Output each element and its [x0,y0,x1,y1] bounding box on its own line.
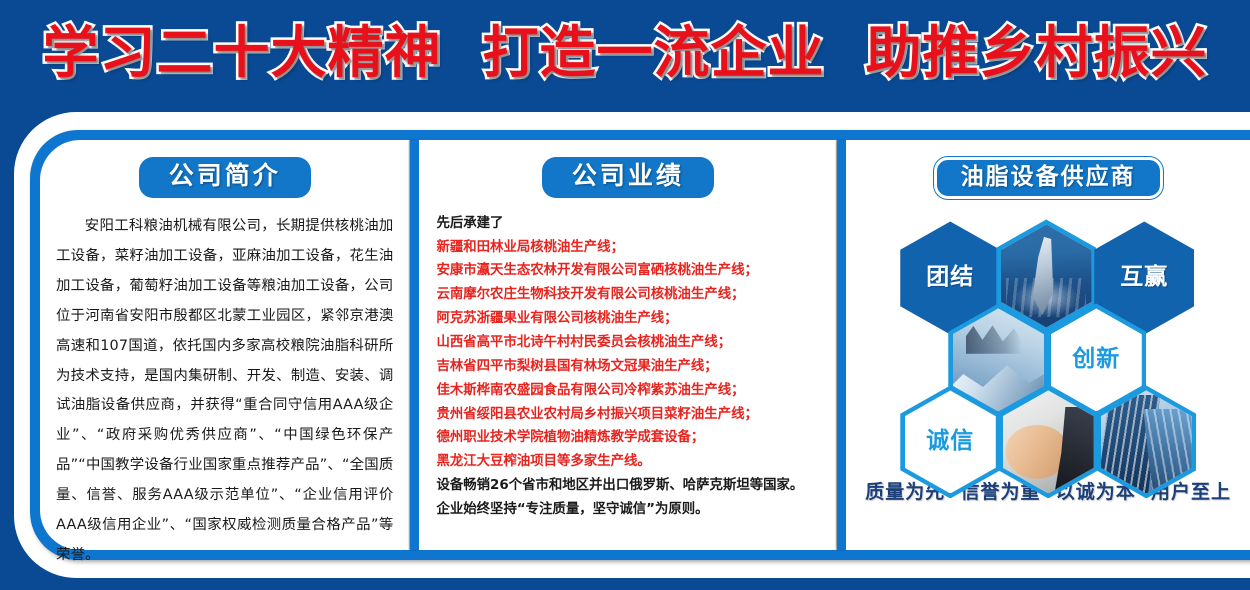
panel-company-intro: 公司简介 安阳工科粮油机械有限公司，长期提供核桃油加工设备，菜籽油加工设备，亚麻… [40,140,410,550]
list-item: 德州职业技术学院植物油精炼教学成套设备； [437,426,820,450]
hexagon-fill: 诚信 [905,390,996,493]
badge-row-intro: 公司简介 [56,140,394,198]
hexagon-fill [1003,390,1094,493]
aircraft-carrier-photo-icon [1001,224,1092,327]
list-item: 新疆和田林业局核桃油生产线； [437,236,820,260]
list-item: 黑龙江大豆榨油项目等多家生产线。 [437,450,820,474]
page-title: 学习二十大精神 打造一流企业 助推乡村振兴 [43,26,1208,82]
column-divider-2 [837,140,846,550]
content-columns: 公司简介 安阳工科粮油机械有限公司，长期提供核桃油加工设备，菜籽油加工设备，亚麻… [40,140,1250,550]
panel-company-performance: 公司业绩 先后承建了 新疆和田林业局核桃油生产线； 安康市瀛天生态农林开发有限公… [419,140,838,550]
list-item: 贵州省绥阳县农业农村局乡村振兴项目菜籽油生产线； [437,403,820,427]
hexagon-fill [1101,390,1192,493]
performance-footer-line: 设备畅销26个省市和地区并出口俄罗斯、哈萨克斯坦等国家。 [437,474,820,498]
hexagon-label: 诚信 [926,430,974,453]
hexagon-fill [1001,224,1092,327]
handshake-photo-icon [1003,390,1094,493]
list-item: 云南摩尔农庄生物科技开发有限公司核桃油生产线； [437,283,820,307]
hexagon-label: 团结 [926,266,974,289]
badge-row-supplier: 油脂设备供应商 [856,140,1240,199]
company-intro-body: 安阳工科粮油机械有限公司，长期提供核桃油加工设备，菜籽油加工设备，亚麻油加工设备… [56,212,394,571]
performance-lead: 先后承建了 [437,212,820,236]
performance-list-wrap: 先后承建了 新疆和田林业局核桃油生产线； 安康市瀛天生态农林开发有限公司富硒核桃… [437,212,820,522]
header-banner: 学习二十大精神 打造一流企业 助推乡村振兴 [0,0,1250,108]
display-board: 学习二十大精神 打造一流企业 助推乡村振兴 公司简介 安阳工科粮油机械有限公司，… [0,0,1250,590]
section-badge-supplier: 油脂设备供应商 [934,157,1163,199]
hexagon-label: 创新 [1072,348,1120,371]
section-badge-company-intro: 公司简介 [139,157,311,198]
city-buildings-photo-icon [1101,390,1192,493]
hexagon-diagram: 团结 互赢 [856,211,1240,463]
list-item: 阿克苏浙疆果业有限公司核桃油生产线； [437,307,820,331]
list-item: 安康市瀛天生态农林开发有限公司富硒核桃油生产线； [437,259,820,283]
column-divider-1 [410,140,419,550]
panel-supplier: 油脂设备供应商 团结 互赢 [846,140,1250,550]
performance-footer-line: 企业始终坚持“专注质量，坚守诚信”为原则。 [437,498,820,522]
list-item: 山西省高平市北诗午村村民委员会核桃油生产线； [437,331,820,355]
section-badge-company-performance: 公司业绩 [542,157,714,198]
hexagon-label: 互赢 [1120,266,1168,289]
list-item: 佳木斯桦南农盛园食品有限公司冷榨紫苏油生产线； [437,379,820,403]
badge-row-performance: 公司业绩 [437,140,820,198]
list-item: 吉林省四平市梨树县国有林场文冠果油生产线； [437,355,820,379]
